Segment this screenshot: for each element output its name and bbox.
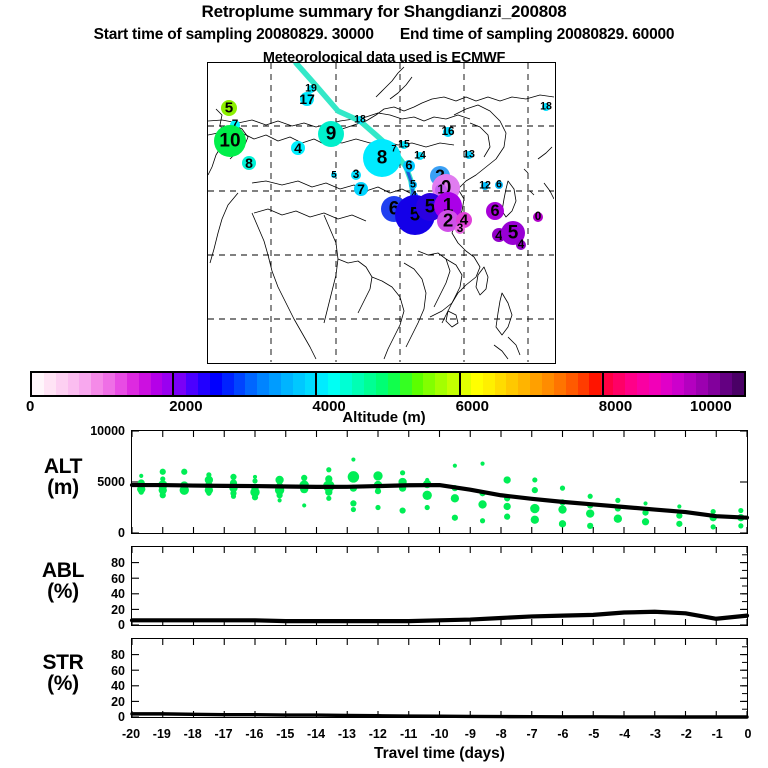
colorbar-segment: [317, 373, 329, 395]
x-tick-label: -10: [430, 727, 448, 741]
colorbar-segment: [672, 373, 684, 395]
colorbar-segment: [151, 373, 163, 395]
colorbar-segment: [245, 373, 257, 395]
colorbar-segment: [423, 373, 435, 395]
colorbar-segment: [412, 373, 424, 395]
page-title: Retroplume summary for Shangdianzi_20080…: [0, 2, 768, 22]
x-tick-label: -18: [184, 727, 202, 741]
y-tick-label: 5000: [65, 475, 125, 489]
colorbar-segment: [68, 373, 80, 395]
map-marker-label: 18: [540, 102, 552, 113]
map-marker-label: 3: [353, 169, 360, 181]
map-marker-label: 6: [405, 160, 412, 173]
y-tick-label: 60: [65, 572, 125, 586]
colorbar-segment: [352, 373, 364, 395]
start-time-label: Start time of sampling 20080829. 30000: [94, 26, 374, 43]
y-tick-label: 0: [65, 618, 125, 632]
map-marker-label: 18: [354, 115, 366, 126]
x-tick-label: -11: [400, 727, 417, 741]
colorbar-segment: [340, 373, 352, 395]
colorbar-segment: [471, 373, 483, 395]
x-tick-label: -13: [338, 727, 356, 741]
colorbar-segment: [613, 373, 625, 395]
colorbar-segment: [281, 373, 293, 395]
alt-plot-svg: [132, 431, 747, 533]
colorbar-segment: [578, 373, 590, 395]
y-tick-label: 0: [65, 526, 125, 540]
colorbar-divider: [172, 371, 174, 397]
map-marker-label: 7: [357, 182, 365, 196]
colorbar-segment: [293, 373, 305, 395]
x-tick-label: -3: [650, 727, 661, 741]
x-tick-label: -9: [465, 727, 476, 741]
map-marker-label: 3: [457, 223, 464, 235]
map-marker-label: 5: [225, 100, 233, 115]
map-marker-label: 13: [463, 150, 475, 161]
colorbar-segment: [257, 373, 269, 395]
colorbar-segment: [447, 373, 459, 395]
colorbar-divider: [459, 371, 461, 397]
x-tick-label: -4: [619, 727, 630, 741]
x-tick-label: -14: [307, 727, 325, 741]
map-marker-label: 9: [326, 125, 337, 144]
colorbar-segment: [554, 373, 566, 395]
map-marker-label: 5: [508, 224, 519, 243]
map-marker-label: 15: [398, 140, 410, 151]
colorbar-segment: [637, 373, 649, 395]
map-marker-label: 10: [219, 132, 240, 151]
y-tick-label: 80: [65, 648, 125, 662]
alt-label-line1: ALT: [8, 456, 118, 477]
colorbar-segment: [625, 373, 637, 395]
alt-plot-panel[interactable]: [131, 430, 748, 534]
colorbar-segment: [661, 373, 673, 395]
map-marker-label: 14: [414, 151, 426, 162]
y-tick-label: 10000: [65, 424, 125, 438]
map-marker-label: 5: [331, 170, 336, 179]
str-plot-svg: [132, 639, 747, 717]
colorbar-segment: [400, 373, 412, 395]
map-marker-label: 16: [441, 126, 454, 138]
colorbar-segment: [79, 373, 91, 395]
colorbar-divider: [315, 371, 317, 397]
colorbar-segment: [234, 373, 246, 395]
end-time-label: End time of sampling 20080829. 60000: [400, 26, 675, 43]
colorbar-segment: [720, 373, 732, 395]
colorbar-segment: [103, 373, 115, 395]
map-marker-label: 5: [410, 180, 416, 191]
colorbar-segment: [174, 373, 186, 395]
x-tick-label: -19: [153, 727, 171, 741]
retroplume-map[interactable]: 5710849191718853715714161318654201365512…: [207, 62, 556, 364]
colorbar-segment: [495, 373, 507, 395]
map-marker-label: 8: [245, 156, 253, 170]
colorbar-segment: [518, 373, 530, 395]
colorbar-segment: [328, 373, 340, 395]
colorbar-segment: [506, 373, 518, 395]
str-plot-panel[interactable]: [131, 638, 748, 718]
map-marker-label: 17: [299, 92, 315, 106]
x-tick-label: -7: [526, 727, 537, 741]
sampling-time-line: Start time of sampling 20080829. 30000En…: [0, 26, 768, 44]
colorbar-segment: [435, 373, 447, 395]
x-tick-label: -1: [712, 727, 723, 741]
y-tick-label: 60: [65, 664, 125, 678]
colorbar-segment: [115, 373, 127, 395]
colorbar-segment: [210, 373, 222, 395]
x-tick-label: 0: [745, 727, 752, 741]
y-tick-label: 20: [65, 695, 125, 709]
map-marker-label: 6: [490, 203, 499, 219]
x-tick-label: -15: [276, 727, 294, 741]
map-marker-label: 4: [294, 141, 302, 155]
x-tick-label: -12: [369, 727, 387, 741]
x-tick-label: -16: [245, 727, 263, 741]
x-tick-label: -17: [215, 727, 233, 741]
colorbar-segment: [269, 373, 281, 395]
colorbar-segment: [198, 373, 210, 395]
y-tick-label: 40: [65, 679, 125, 693]
colorbar-segment: [186, 373, 198, 395]
colorbar-segment: [222, 373, 234, 395]
colorbar-segment: [566, 373, 578, 395]
colorbar-segment: [44, 373, 56, 395]
colorbar-segment: [696, 373, 708, 395]
x-tick-label: -20: [122, 727, 140, 741]
abl-plot-svg: [132, 547, 747, 625]
y-tick-label: 0: [65, 710, 125, 724]
colorbar-segment: [708, 373, 720, 395]
x-tick-label: -5: [588, 727, 599, 741]
colorbar-segment: [56, 373, 68, 395]
map-marker-label: 12: [479, 181, 491, 192]
colorbar-segment: [364, 373, 376, 395]
colorbar-segment: [376, 373, 388, 395]
map-marker-label: 7: [391, 144, 396, 153]
colorbar-segment: [483, 373, 495, 395]
map-marker-label: 2: [443, 212, 453, 231]
map-marker-label: 6: [496, 180, 502, 191]
map-marker-label: 0: [535, 211, 542, 223]
map-marker-label: 4: [518, 239, 525, 251]
abl-plot-panel[interactable]: [131, 546, 748, 626]
colorbar-segment: [530, 373, 542, 395]
x-tick-label: -8: [496, 727, 507, 741]
colorbar-segment: [649, 373, 661, 395]
map-marker-label: 8: [377, 149, 388, 168]
colorbar-segment: [127, 373, 139, 395]
x-axis-title: Travel time (days): [131, 745, 748, 763]
y-tick-label: 40: [65, 587, 125, 601]
y-tick-label: 20: [65, 603, 125, 617]
colorbar-segment: [139, 373, 151, 395]
colorbar-segment: [732, 373, 744, 395]
altitude-colorbar: [30, 371, 746, 397]
colorbar-segment: [388, 373, 400, 395]
colorbar-segment: [542, 373, 554, 395]
colorbar-divider: [602, 371, 604, 397]
y-tick-label: 80: [65, 556, 125, 570]
x-tick-label: -2: [681, 727, 692, 741]
colorbar-segment: [459, 373, 471, 395]
colorbar-segment: [32, 373, 44, 395]
colorbar-segment: [91, 373, 103, 395]
colorbar-segment: [684, 373, 696, 395]
x-tick-label: -6: [557, 727, 568, 741]
colorbar-segment: [589, 373, 601, 395]
